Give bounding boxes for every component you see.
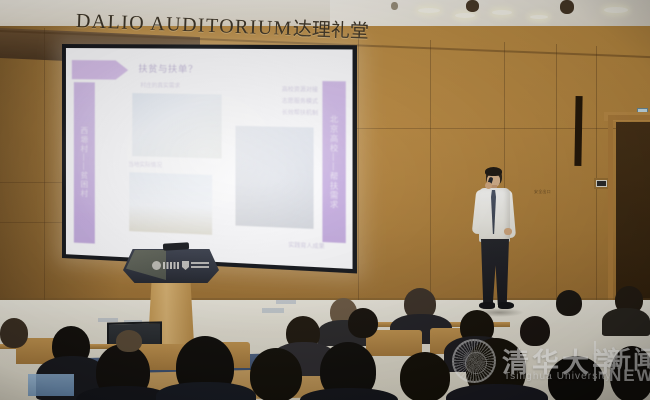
ceiling-light [418, 8, 440, 13]
speaker [468, 168, 528, 316]
wall-recess [574, 96, 582, 166]
shield-icon [182, 261, 189, 270]
papers-on-desk [176, 351, 206, 362]
wall-outlet-socket [597, 181, 606, 186]
projection-screen: 扶贫与扶单？ 村庄的真实需求 当地实际情况 高校资源对接 志愿服务模式 长效帮扶… [62, 44, 357, 273]
watermark: 清华大学 Tsinghua University 新闻 NEWS [452, 333, 648, 393]
podium-logo-tsinghua [152, 259, 179, 272]
speaker-shoe [479, 302, 495, 309]
wall-exit-sign: 安全出口 [534, 190, 560, 199]
speaker-hair [485, 167, 502, 176]
seal-inner-ring [465, 352, 487, 374]
podium-logo-wordmark [163, 262, 179, 269]
wall-panel-seam [44, 28, 45, 310]
slide-banner-left: 西塬村——贫困村 [74, 82, 95, 243]
auditorium-photo: DALIO AUDITORIUM达理礼堂 安全出口 扶贫与扶单？ 村庄的真实需求… [0, 0, 650, 400]
slide-bullet: 长效帮扶机制 [282, 108, 318, 117]
speaker-hand-holding-mic [485, 182, 492, 189]
slide-bullet: 高校资源对接 [282, 85, 318, 94]
ceiling-spotlight [560, 0, 574, 14]
laptop-keyboard[interactable] [103, 354, 167, 362]
slide-bullet: 志愿服务模式 [282, 96, 318, 105]
slide-banner-right: 北京高校——帮扶需求 [322, 81, 345, 243]
ceiling-light [492, 10, 512, 15]
slide-arrow-shape [72, 60, 128, 80]
ceiling-light [604, 7, 628, 13]
podium-logo-lines [191, 262, 209, 270]
watermark-news-en: NEWS [609, 366, 650, 386]
wall-panel-seam [358, 38, 359, 308]
wall-panel-seam [430, 40, 431, 308]
laptop-screen[interactable] [107, 321, 162, 357]
ceiling-light [530, 15, 548, 19]
slide-banner-right-text: 北京高校——帮扶需求 [328, 115, 340, 210]
wall-panel-seam [596, 46, 597, 308]
ceiling-spotlight [466, 0, 479, 12]
wall-panel-seam [0, 222, 70, 223]
wall-panel-seam [556, 44, 557, 308]
slide-photo [132, 93, 221, 159]
tsinghua-seal-icon [452, 339, 496, 383]
tsinghua-seal-icon [152, 261, 161, 270]
slide-title: 扶贫与扶单？ [138, 62, 198, 76]
speaker-other-hand [504, 228, 512, 235]
watermark-divider [594, 341, 596, 381]
wall-sign-cn: 达理礼堂 [292, 19, 369, 43]
podium-logo-secondary [182, 259, 209, 272]
door-frame [608, 115, 650, 313]
ceiling-spotlight [391, 2, 398, 10]
speaker-shoe [498, 302, 514, 309]
podium-microphone [163, 242, 189, 250]
slide-photo [235, 126, 313, 229]
speaker-shadow [474, 308, 524, 317]
speaker-trousers [481, 239, 509, 305]
wall-panel-seam [350, 128, 650, 129]
floor-marking [262, 308, 284, 313]
wall-panel-seam [0, 182, 70, 183]
slide-bullet: 实践育人成果 [288, 240, 324, 250]
slide-photo [129, 172, 212, 235]
slide-bullet: 当地实际情况 [128, 160, 162, 169]
slide-banner-left-text: 西塬村——贫困村 [79, 127, 90, 199]
ceiling-light [455, 13, 475, 18]
screen-surface: 扶贫与扶单？ 村庄的真实需求 当地实际情况 高校资源对接 志愿服务模式 长效帮扶… [66, 48, 353, 269]
floor-marking [276, 300, 296, 304]
presentation-slide: 扶贫与扶单？ 村庄的真实需求 当地实际情况 高校资源对接 志愿服务模式 长效帮扶… [66, 48, 353, 269]
slide-bullet: 村庄的真实需求 [140, 81, 180, 90]
